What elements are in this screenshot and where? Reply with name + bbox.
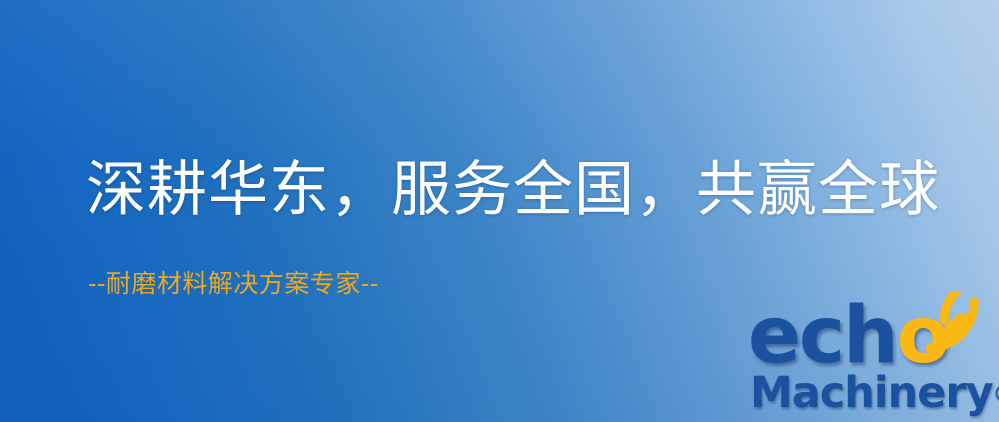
banner-headline: 深耕华东，服务全国，共赢全球 <box>86 152 940 228</box>
signal-waves-icon <box>924 292 999 362</box>
company-logo: echo Machinery® <box>748 296 998 422</box>
hero-banner: 深耕华东，服务全国，共赢全球 --耐磨材料解决方案专家-- echo Machi… <box>0 0 999 422</box>
logo-tagline-text: Machinery <box>750 368 993 418</box>
banner-subtitle: --耐磨材料解决方案专家-- <box>88 268 379 300</box>
logo-tagline: Machinery® <box>750 368 999 419</box>
registered-trademark-icon: ® <box>993 382 999 406</box>
